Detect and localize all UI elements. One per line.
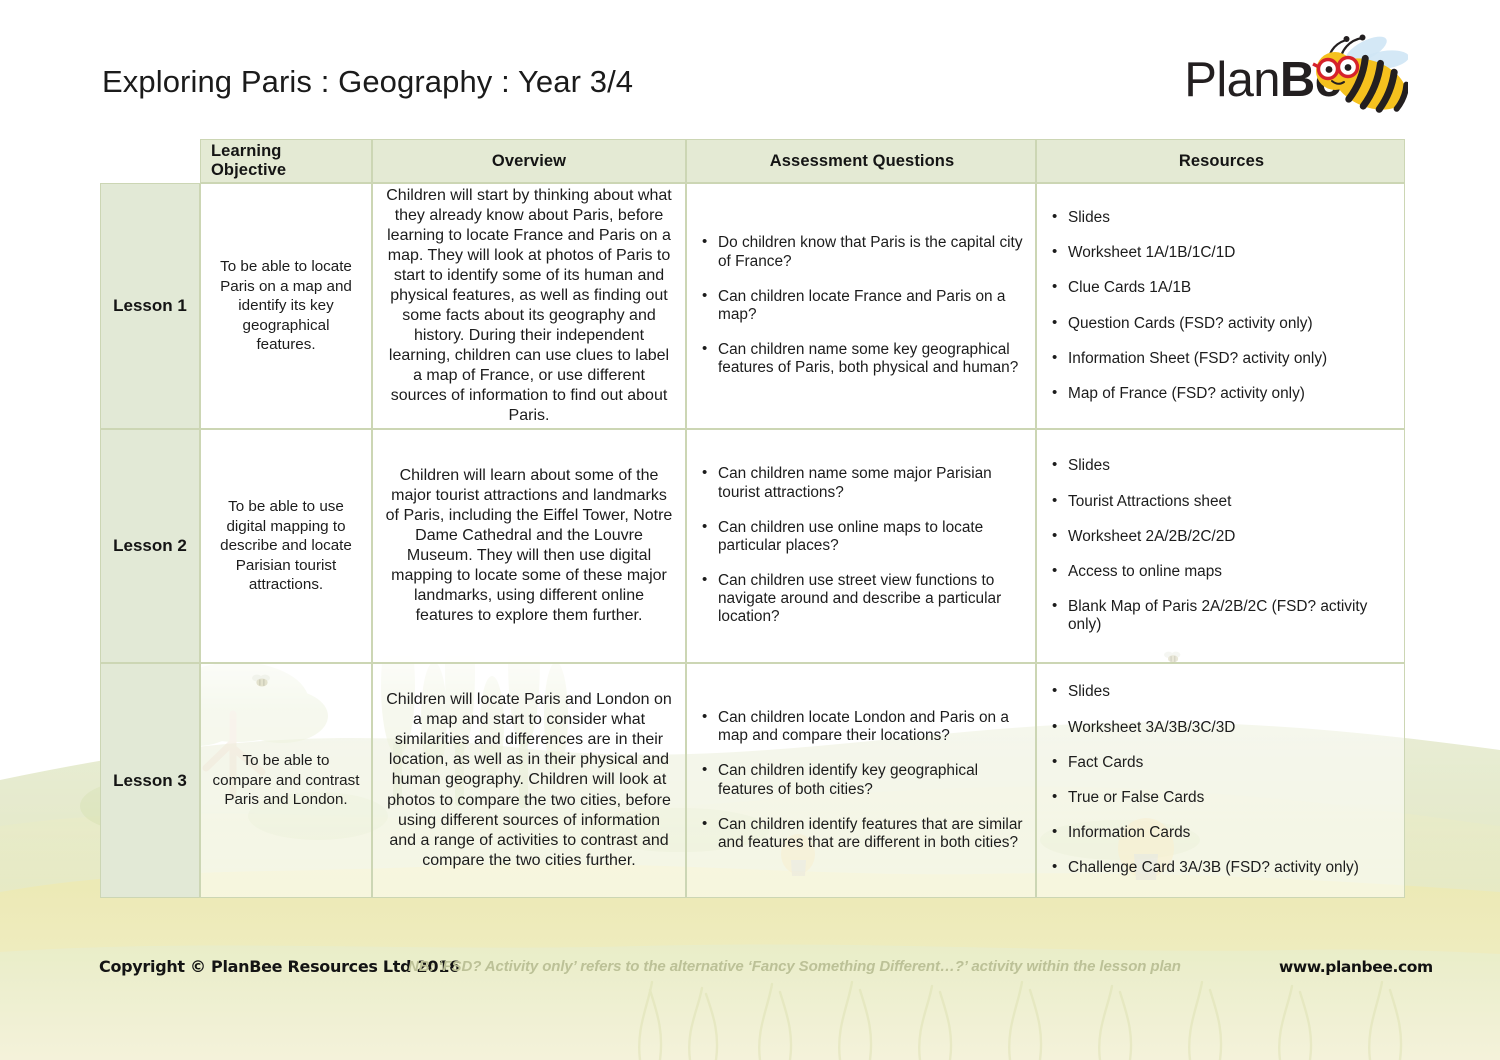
list-item: Information Cards	[1051, 824, 1392, 842]
page-footer: Copyright © PlanBee Resources Ltd 2016 N…	[0, 952, 1500, 992]
list-item: Can children identify features that are …	[701, 816, 1023, 852]
list-item: Challenge Card 3A/3B (FSD? activity only…	[1051, 859, 1392, 877]
table-row: Lesson 2 To be able to use digital mappi…	[100, 429, 1405, 663]
column-header-assessment-questions: Assessment Questions	[686, 139, 1036, 183]
learning-objective-cell: To be able to locate Paris on a map and …	[200, 183, 372, 429]
planbee-bee-icon	[1108, 26, 1408, 126]
assessment-questions-list: Can children locate London and Paris on …	[701, 709, 1023, 852]
list-item: Worksheet 1A/1B/1C/1D	[1051, 244, 1392, 262]
column-header-resources: Resources	[1036, 139, 1405, 183]
overview-cell: Children will locate Paris and London on…	[372, 663, 686, 898]
resources-cell: Slides Worksheet 3A/3B/3C/3D Fact Cards …	[1036, 663, 1405, 898]
lesson-plan-page: Exploring Paris : Geography : Year 3/4 P…	[0, 0, 1500, 1060]
lesson-number-cell: Lesson 3	[100, 663, 200, 898]
copyright-text: Copyright © PlanBee Resources Ltd 2016	[99, 957, 460, 976]
list-item: Slides	[1051, 457, 1392, 475]
learning-objective-cell: To be able to compare and contrast Paris…	[200, 663, 372, 898]
column-header-label: Overview	[492, 152, 566, 171]
resources-list: Slides Worksheet 3A/3B/3C/3D Fact Cards …	[1051, 683, 1392, 877]
column-header-overview: Overview	[372, 139, 686, 183]
assessment-questions-cell: Do children know that Paris is the capit…	[686, 183, 1036, 429]
column-header-label: Assessment Questions	[770, 152, 954, 171]
page-header: Exploring Paris : Geography : Year 3/4 P…	[0, 0, 1500, 135]
list-item: Can children locate France and Paris on …	[701, 288, 1023, 324]
list-item: Worksheet 3A/3B/3C/3D	[1051, 719, 1392, 737]
learning-objective-cell: To be able to use digital mapping to des…	[200, 429, 372, 663]
lesson-number-cell: Lesson 1	[100, 183, 200, 429]
list-item: Fact Cards	[1051, 754, 1392, 772]
website-link[interactable]: www.planbee.com	[1279, 958, 1433, 976]
list-item: Can children name some major Parisian to…	[701, 465, 1023, 501]
resources-cell: Slides Worksheet 1A/1B/1C/1D Clue Cards …	[1036, 183, 1405, 429]
list-item: True or False Cards	[1051, 789, 1392, 807]
list-item: Do children know that Paris is the capit…	[701, 234, 1023, 270]
table-row: Lesson 1 To be able to locate Paris on a…	[100, 183, 1405, 429]
small-bee-decoration-icon-2	[1164, 650, 1184, 665]
list-item: Map of France (FSD? activity only)	[1051, 385, 1392, 403]
resources-cell: Slides Tourist Attractions sheet Workshe…	[1036, 429, 1405, 663]
list-item: Slides	[1051, 209, 1392, 227]
list-item: Can children locate London and Paris on …	[701, 709, 1023, 745]
list-item: Can children name some key geographical …	[701, 341, 1023, 377]
small-bee-decoration-icon	[252, 673, 274, 689]
column-header-label: Learning Objective	[211, 142, 361, 180]
fsd-note-text: NB: ‘FSD? Activity only’ refers to the a…	[408, 958, 1181, 975]
list-item: Slides	[1051, 683, 1392, 701]
list-item: Tourist Attractions sheet	[1051, 493, 1392, 511]
learning-objective-text: To be able to compare and contrast Paris…	[211, 751, 361, 810]
table-header-row: Learning Objective Overview Assessment Q…	[100, 139, 1405, 183]
table-row: Lesson 3 To be able to compare and contr…	[100, 663, 1405, 898]
list-item: Blank Map of Paris 2A/2B/2C (FSD? activi…	[1051, 598, 1392, 634]
page-title: Exploring Paris : Geography : Year 3/4	[102, 64, 633, 100]
list-item: Can children use street view functions t…	[701, 572, 1023, 627]
overview-cell: Children will start by thinking about wh…	[372, 183, 686, 429]
overview-cell: Children will learn about some of the ma…	[372, 429, 686, 663]
column-header-label: Resources	[1179, 152, 1264, 171]
list-item: Information Sheet (FSD? activity only)	[1051, 350, 1392, 368]
lesson-label: Lesson 3	[113, 771, 187, 791]
resources-list: Slides Tourist Attractions sheet Workshe…	[1051, 457, 1392, 634]
assessment-questions-cell: Can children locate London and Paris on …	[686, 663, 1036, 898]
assessment-questions-list: Can children name some major Parisian to…	[701, 465, 1023, 626]
lesson-number-cell: Lesson 2	[100, 429, 200, 663]
list-item: Clue Cards 1A/1B	[1051, 279, 1392, 297]
learning-objective-text: To be able to locate Paris on a map and …	[211, 257, 361, 355]
list-item: Question Cards (FSD? activity only)	[1051, 315, 1392, 333]
lesson-label: Lesson 1	[113, 296, 187, 316]
learning-objective-text: To be able to use digital mapping to des…	[211, 497, 361, 595]
list-item: Can children use online maps to locate p…	[701, 519, 1023, 555]
overview-text: Children will start by thinking about wh…	[385, 186, 673, 427]
lesson-label: Lesson 2	[113, 536, 187, 556]
overview-text: Children will locate Paris and London on…	[385, 690, 673, 871]
assessment-questions-list: Do children know that Paris is the capit…	[701, 234, 1023, 377]
resources-list: Slides Worksheet 1A/1B/1C/1D Clue Cards …	[1051, 209, 1392, 403]
header-spacer-cell	[100, 139, 200, 183]
list-item: Worksheet 2A/2B/2C/2D	[1051, 528, 1392, 546]
list-item: Access to online maps	[1051, 563, 1392, 581]
lesson-overview-table: Learning Objective Overview Assessment Q…	[100, 139, 1405, 898]
column-header-learning-objective: Learning Objective	[200, 139, 372, 183]
assessment-questions-cell: Can children name some major Parisian to…	[686, 429, 1036, 663]
overview-text: Children will learn about some of the ma…	[385, 466, 673, 627]
list-item: Can children identify key geographical f…	[701, 762, 1023, 798]
